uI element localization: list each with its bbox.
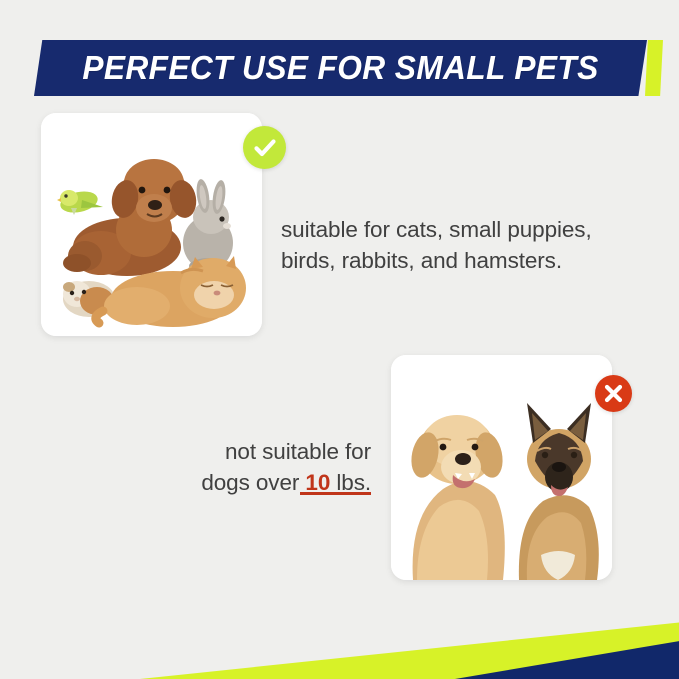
header-banner: PERFECT USE FOR SMALL PETS	[0, 40, 679, 96]
suitable-text-line1: suitable for cats, small puppies,	[281, 214, 651, 245]
cross-badge	[595, 375, 632, 412]
page-title: PERFECT USE FOR SMALL PETS	[46, 40, 634, 96]
small-pets-photo	[41, 113, 262, 336]
small-pets-card	[41, 113, 262, 336]
infographic-canvas: PERFECT USE FOR SMALL PETS	[0, 0, 679, 679]
check-icon	[252, 135, 278, 161]
suitable-text-line2: birds, rabbits, and hamsters.	[281, 245, 651, 276]
check-badge	[243, 126, 286, 169]
suitable-text: suitable for cats, small puppies, birds,…	[281, 214, 651, 276]
weight-limit-underline	[300, 492, 371, 495]
banner-accent-stripe	[645, 40, 663, 96]
cross-icon	[602, 382, 625, 405]
large-dogs-card	[391, 355, 612, 580]
weight-limit-prefix: dogs over	[201, 470, 305, 495]
not-suitable-text-line1: not suitable for	[120, 436, 371, 467]
not-suitable-text: not suitable for dogs over 10 lbs.	[120, 436, 371, 498]
large-dogs-photo	[391, 355, 612, 580]
